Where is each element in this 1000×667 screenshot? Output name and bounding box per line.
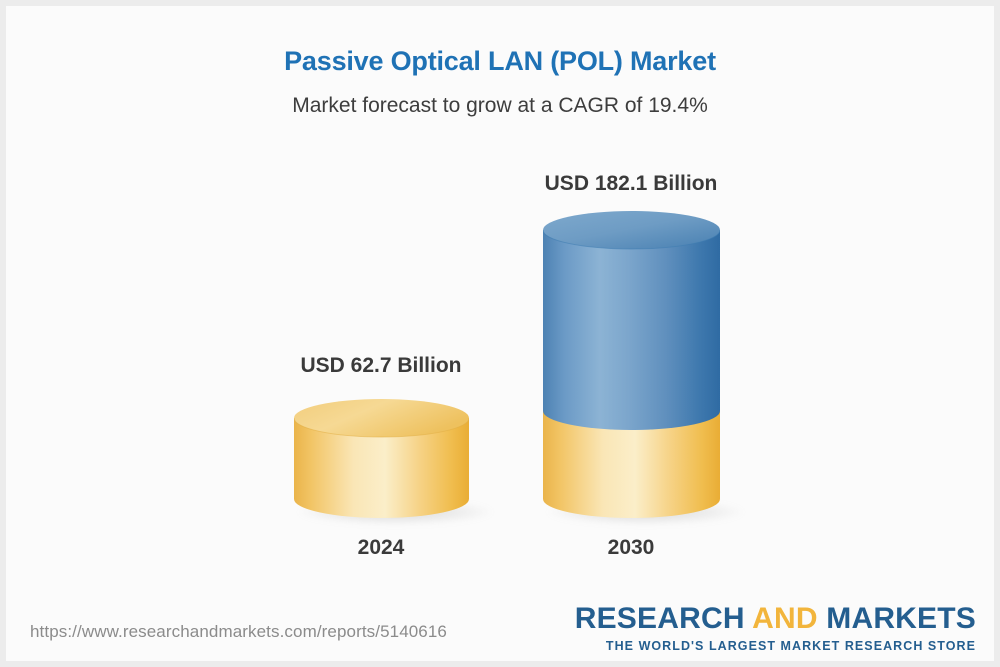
logo-word-markets: MARKETS bbox=[826, 602, 976, 635]
plot-area: USD 62.7 Billion USD 182.1 Billion 2024 … bbox=[6, 6, 994, 661]
bar-cylinder-2030 bbox=[543, 211, 720, 518]
category-label-2024: 2024 bbox=[251, 536, 511, 560]
source-url[interactable]: https://www.researchandmarkets.com/repor… bbox=[30, 622, 447, 642]
category-label-2030: 2030 bbox=[501, 536, 761, 560]
chart-canvas: Passive Optical LAN (POL) Market Market … bbox=[6, 6, 994, 661]
bar-cylinder-2024 bbox=[294, 399, 469, 518]
logo-word-and: AND bbox=[745, 602, 827, 635]
logo-tagline: THE WORLD'S LARGEST MARKET RESEARCH STOR… bbox=[575, 640, 976, 653]
brand-logo: RESEARCH AND MARKETS THE WORLD'S LARGEST… bbox=[575, 604, 976, 653]
chart-frame: Passive Optical LAN (POL) Market Market … bbox=[0, 0, 1000, 667]
logo-wordmark: RESEARCH AND MARKETS bbox=[575, 604, 976, 634]
value-label-2024: USD 62.7 Billion bbox=[251, 354, 511, 378]
value-label-2030: USD 182.1 Billion bbox=[501, 172, 761, 196]
logo-word-research: RESEARCH bbox=[575, 602, 745, 635]
